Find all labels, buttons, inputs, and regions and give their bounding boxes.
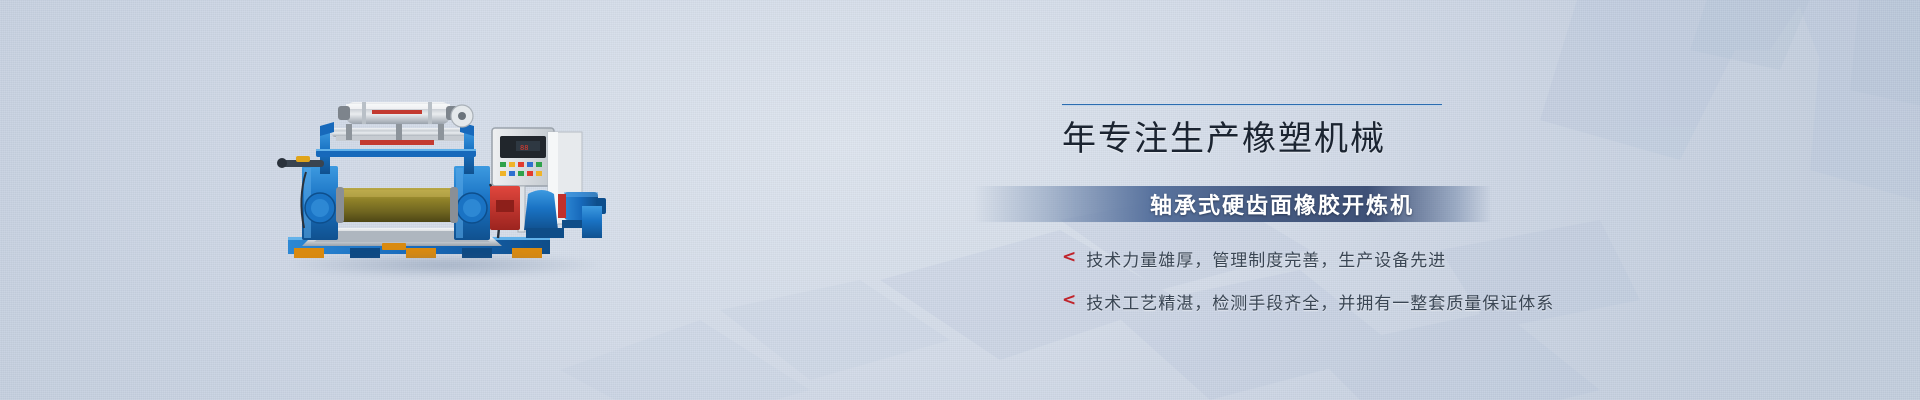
svg-text:88: 88: [520, 144, 528, 152]
product-image: 88: [276, 88, 616, 268]
subtitle-text: 轴承式硬齿面橡胶开炼机: [1150, 188, 1414, 220]
chevron-left-icon: <: [1062, 249, 1076, 266]
list-item: < 技术工艺精湛，检测手段齐全，并拥有一整套质量保证体系: [1062, 289, 1554, 314]
feature-text: 技术工艺精湛，检测手段齐全，并拥有一整套质量保证体系: [1086, 289, 1554, 314]
chevron-left-icon: <: [1062, 292, 1076, 309]
headline-rule: [1062, 104, 1442, 106]
headline: 年专注生产橡塑机械: [1062, 120, 1782, 158]
product-image-shadow: [286, 252, 606, 278]
decorative-polygon-bottom-left: [560, 250, 980, 400]
open-mill-machine-illustration: 88: [276, 88, 616, 268]
feature-text: 技术力量雄厚，管理制度完善，生产设备先进: [1086, 246, 1446, 271]
feature-list: < 技术力量雄厚，管理制度完善，生产设备先进 < 技术工艺精湛，检测手段齐全，并…: [1062, 246, 1554, 332]
list-item: < 技术力量雄厚，管理制度完善，生产设备先进: [1062, 246, 1554, 271]
banner-text-block: 年专注生产橡塑机械 轴承式硬齿面橡胶开炼机 < 技术力量雄厚，管理制度完善，生产…: [1062, 104, 1782, 158]
subtitle-bar: 轴承式硬齿面橡胶开炼机: [974, 186, 1492, 222]
hero-banner: 88: [0, 0, 1920, 400]
